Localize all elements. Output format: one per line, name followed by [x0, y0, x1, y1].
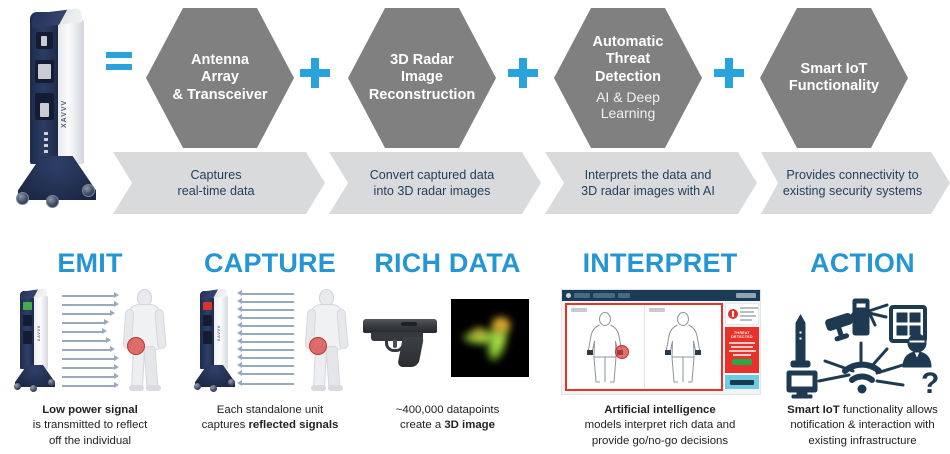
step-heading-rich-data: RICH DATA: [355, 250, 540, 277]
hexagon-automatic-threat-detection: Automatic Threat Detection AI & Deep Lea…: [554, 8, 702, 148]
caption-line: is transmitted to reflect: [33, 419, 148, 431]
step-interpret: INTERPRET: [545, 240, 775, 454]
step-heading-interpret: INTERPRET: [545, 250, 775, 277]
hexagon-title: Smart IoT Functionality: [789, 61, 879, 95]
step-rich-data-illustration: [355, 285, 540, 397]
step-action-caption: Smart IoT functionality allows notificat…: [775, 403, 950, 449]
chevron-label: Interprets the data and 3D radar images …: [571, 167, 731, 199]
step-interpret-caption: Artificial intelligence models interpret…: [545, 403, 775, 449]
person-silhouette: [118, 289, 170, 391]
hexagon-antenna-array: Antenna Array & Transceiver: [146, 8, 294, 148]
plus-operator-icon-1: [300, 58, 330, 88]
steps-row: EMIT XAVVV: [0, 240, 950, 454]
scan-view-panels: [565, 303, 723, 391]
step-capture-caption: Each standalone unit captures reflected …: [180, 403, 360, 434]
alert-header: [725, 303, 759, 325]
caption-line: notification & interaction with: [790, 419, 934, 431]
chevron-label: Captures real-time data: [168, 167, 271, 199]
threat-detected-title: THREAT DETECTED: [728, 331, 756, 339]
step-action: ACTION: [775, 240, 950, 454]
caption-line: Each standalone unit: [217, 404, 323, 416]
caption-bold: Low power signal: [42, 404, 138, 416]
caption-bold: reflected signals: [248, 419, 338, 431]
hexagon-subtitle: AI & Deep Learning: [596, 89, 660, 122]
caption-line-with-bold: create a 3D image: [400, 419, 495, 431]
step-rich-data: RICH DATA ~400,000 datapo: [355, 240, 540, 454]
body-outline-icon: [661, 312, 705, 384]
action-bar: [725, 375, 759, 389]
device-brand-label: XAVVV: [36, 325, 41, 341]
step-heading-action: ACTION: [775, 250, 950, 277]
scan-pane-back: [645, 305, 722, 389]
threat-detection-software-screenshot: THREAT DETECTED: [561, 289, 761, 395]
step-capture: CAPTURE XAVVV: [180, 240, 360, 454]
caption-line: ~400,000 datapoints: [396, 404, 500, 416]
hexagon-title: Antenna Array & Transceiver: [172, 52, 267, 103]
device-wheel: [82, 184, 95, 197]
scan-pane-front: [567, 305, 645, 389]
chevron-band: Captures real-time data Convert captured…: [113, 152, 950, 214]
hexagon-3d-radar-reconstruction: 3D Radar Image Reconstruction: [348, 8, 496, 148]
scanner-device-image: XAVVV: [14, 8, 100, 208]
step-capture-illustration: XAVVV: [180, 285, 360, 397]
chevron-label: Convert captured data into 3D radar imag…: [360, 167, 511, 199]
caption-bold: Smart IoT: [787, 404, 840, 416]
device-port-top-inner: [41, 36, 47, 46]
caption-line: off the individual: [49, 435, 131, 447]
caption-line: existing infrastructure: [808, 435, 916, 447]
wifi-icon: [845, 365, 879, 380]
step-emit: EMIT XAVVV: [0, 240, 180, 454]
threat-marker-icon: [127, 337, 145, 355]
brand-logo: [736, 293, 756, 298]
scanner-tower-icon: [791, 315, 810, 367]
chevron-provides-connectivity: Provides connectivity to existing securi…: [761, 152, 950, 214]
device-wheel: [46, 195, 59, 208]
equals-operator-icon: [101, 52, 137, 88]
chevron-label: Provides connectivity to existing securi…: [773, 167, 938, 199]
chevron-convert-captured-data: Convert captured data into 3D radar imag…: [329, 152, 541, 214]
device-brand-label: XAVVV: [216, 325, 221, 341]
hexagon-smart-iot-functionality: Smart IoT Functionality: [760, 8, 908, 148]
device-status-led-green: [23, 302, 32, 310]
device-status-led-red: [203, 302, 212, 310]
caption-bold: Artificial intelligence: [604, 404, 715, 416]
step-emit-caption: Low power signal is transmitted to refle…: [0, 403, 180, 449]
infographic-page: XAVVV Antenna Array & Transceiver 3D Rad…: [0, 0, 950, 454]
hexagon-title: 3D Radar Image Reconstruction: [369, 52, 475, 103]
device-brand-label: XAVVV: [61, 70, 69, 128]
mini-scanner-device: XAVVV: [194, 289, 236, 393]
step-heading-emit: EMIT: [0, 250, 180, 277]
plus-operator-icon-3: [714, 58, 744, 88]
turnstile-icon: [853, 299, 887, 335]
confirm-threat-button[interactable]: [732, 359, 752, 365]
monitor-icon: [787, 371, 817, 398]
person-silhouette: [300, 289, 352, 391]
capture-arrows: [236, 291, 302, 387]
equation-row: XAVVV Antenna Array & Transceiver 3D Rad…: [0, 0, 950, 150]
radar-heatmap-image: [451, 299, 529, 377]
caption-line: models interpret rich data and: [585, 419, 736, 431]
device-indicator-dots: [44, 132, 48, 154]
device-wheel: [16, 192, 29, 205]
step-emit-illustration: XAVVV: [0, 285, 180, 397]
device-port-mid-inner: [38, 64, 51, 79]
emit-arrows: [60, 293, 122, 385]
chevron-interprets-data: Interprets the data and 3D radar images …: [545, 152, 757, 214]
app-logo-icon: [566, 293, 571, 298]
device-port-low-inner: [40, 103, 49, 117]
caption-line: provide go/no-go decisions: [592, 435, 728, 447]
caption-bold: 3D image: [444, 419, 495, 431]
question-mark-icon: ?: [921, 367, 939, 399]
step-rich-data-caption: ~400,000 datapoints create a 3D image: [355, 403, 540, 434]
handgun-icon: [363, 309, 443, 367]
software-titlebar: [562, 290, 760, 301]
mini-scanner-device: XAVVV: [14, 289, 56, 393]
threat-detected-panel: THREAT DETECTED: [725, 327, 759, 373]
step-interpret-illustration: THREAT DETECTED: [545, 285, 775, 397]
hexagon-title: Automatic Threat Detection: [593, 34, 664, 85]
software-sidebar: THREAT DETECTED: [725, 303, 759, 391]
caption-line-with-bold: Smart IoT functionality allows: [787, 404, 938, 416]
threat-marker-icon: [615, 345, 629, 359]
iot-icon-cluster: ?: [783, 287, 941, 399]
caption-line-with-bold: captures reflected signals: [202, 419, 339, 431]
action-button[interactable]: [730, 380, 754, 385]
step-action-illustration: ?: [775, 285, 950, 397]
plus-operator-icon-2: [508, 58, 538, 88]
threat-marker-icon: [309, 337, 327, 355]
alert-exclamation-icon: [728, 309, 738, 319]
step-heading-capture: CAPTURE: [180, 250, 360, 277]
chevron-captures-realtime-data: Captures real-time data: [113, 152, 325, 214]
